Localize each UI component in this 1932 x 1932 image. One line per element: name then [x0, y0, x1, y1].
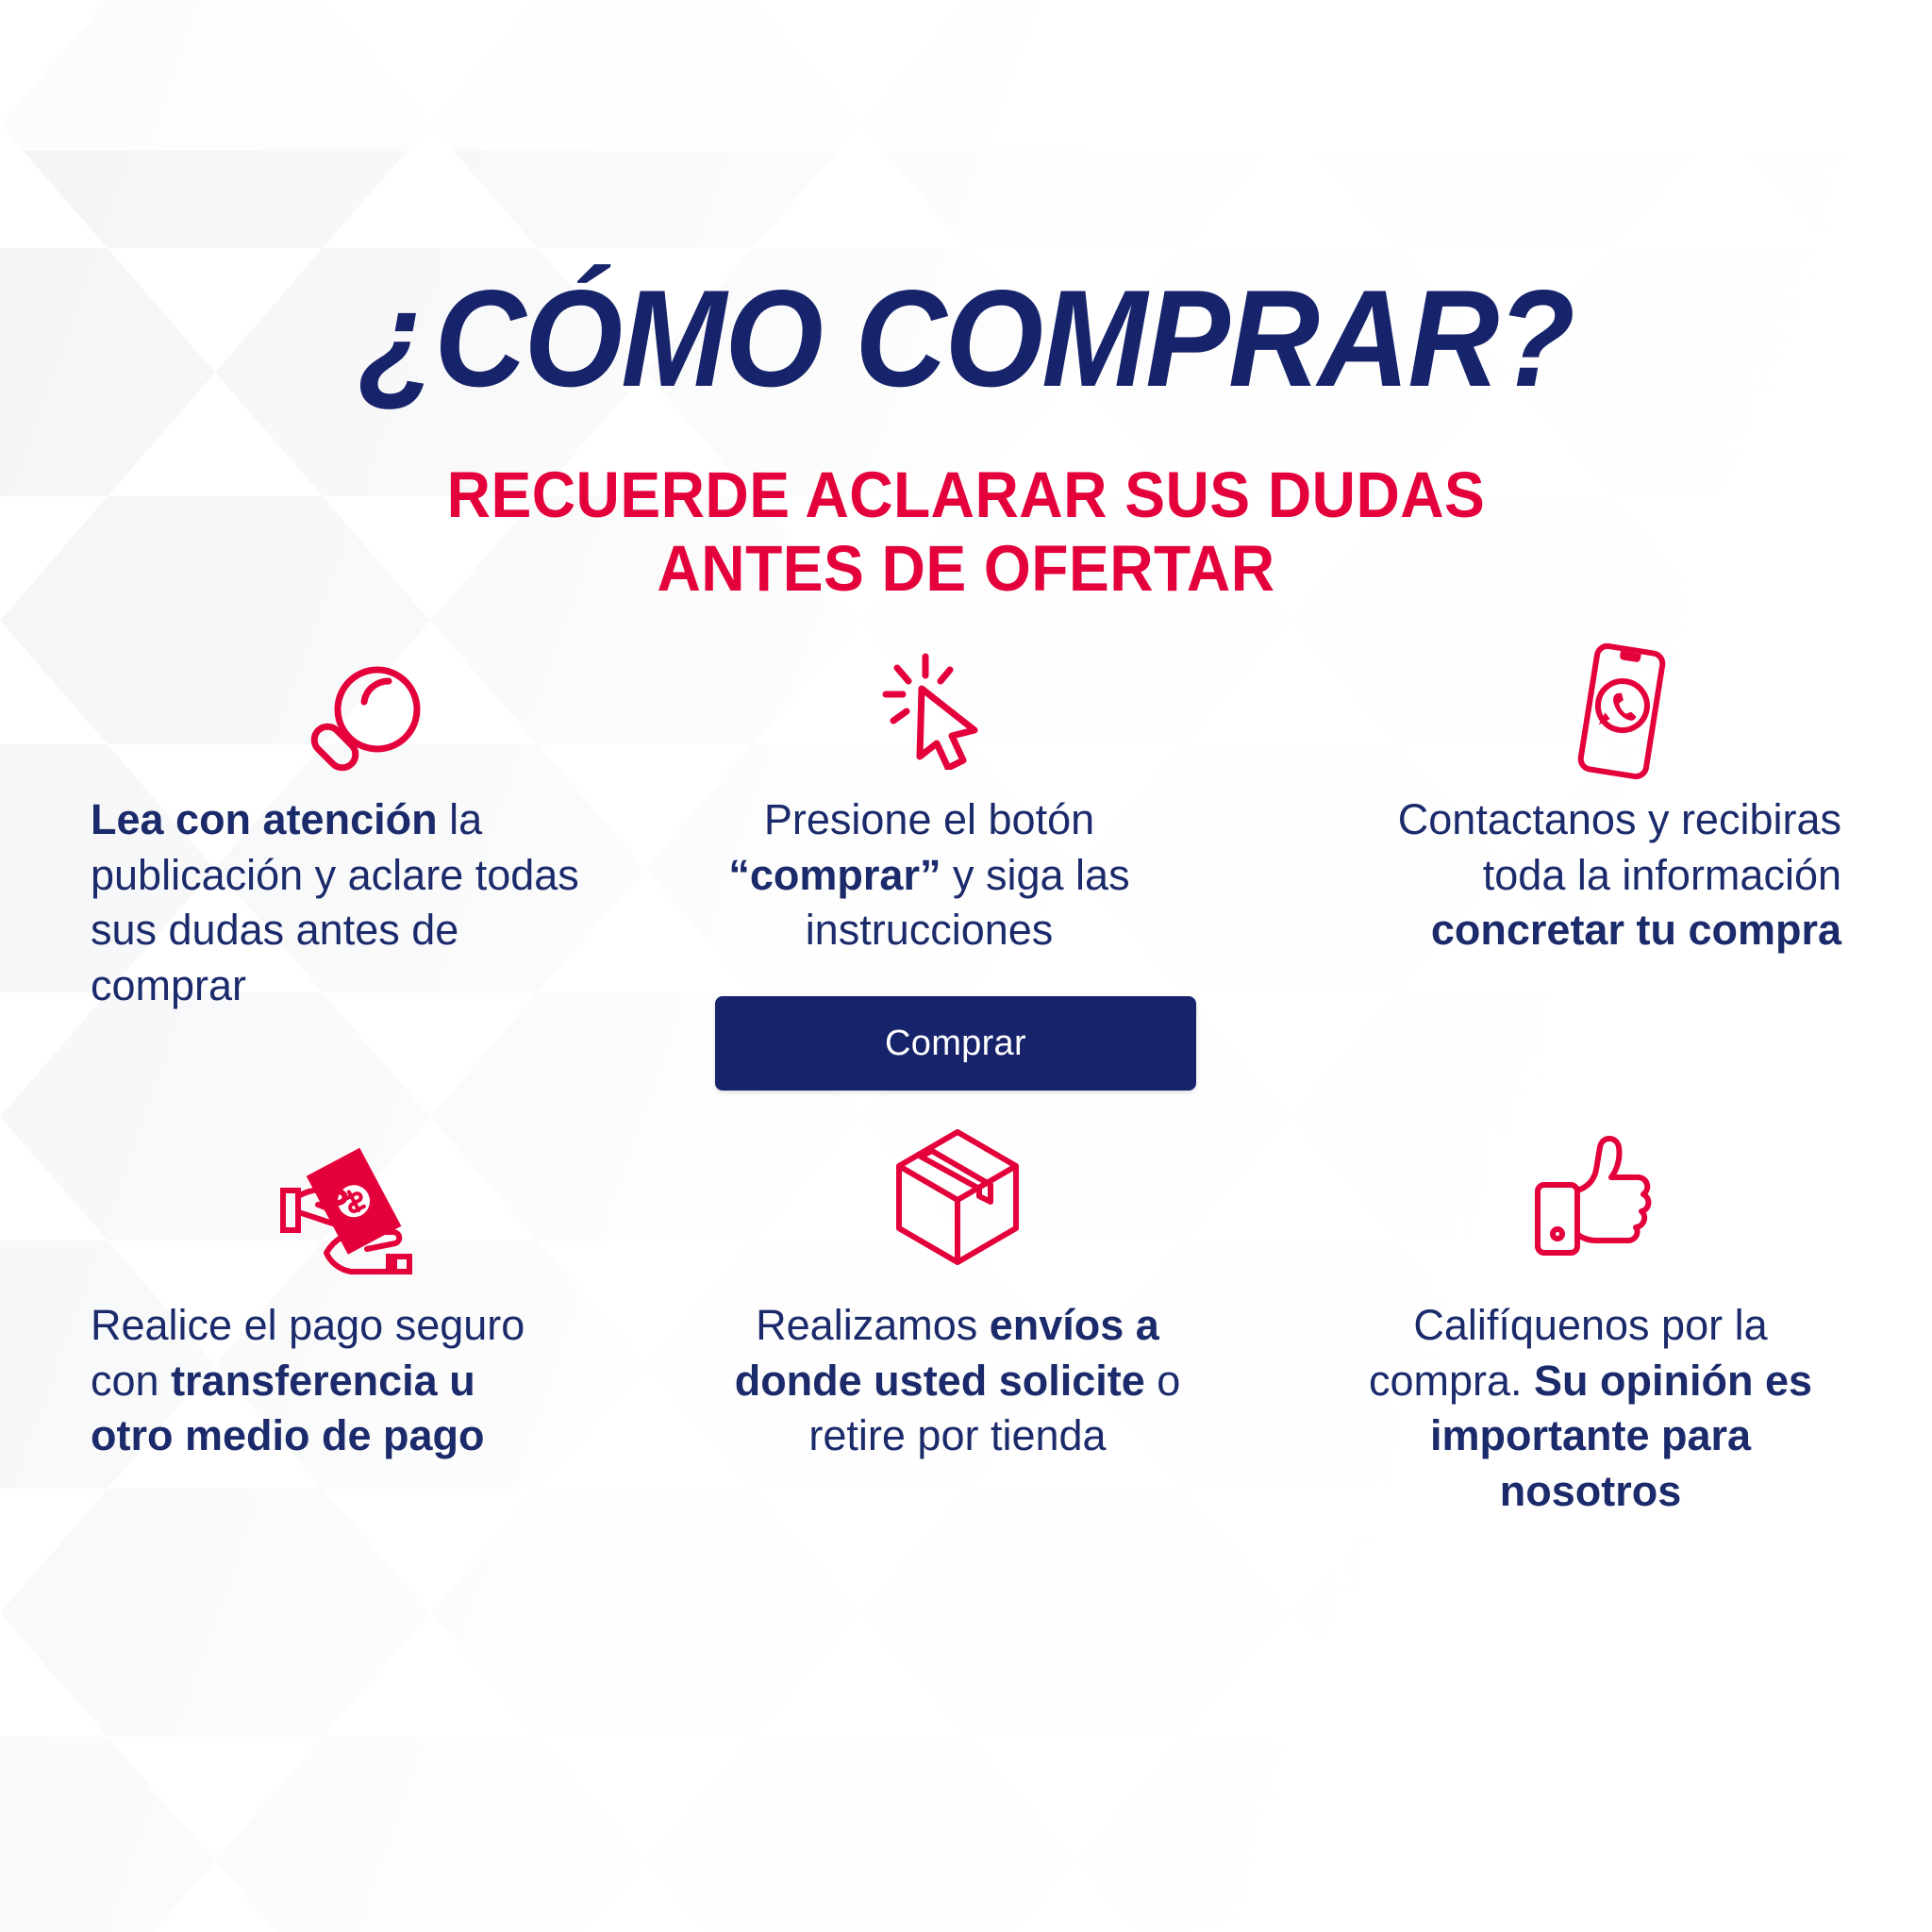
step-rate-us: Califíquenos por la compra. Su opinión e… — [1340, 1298, 1841, 1519]
magnifier-icon — [291, 660, 430, 793]
click-cursor-icon — [873, 649, 986, 774]
hand-money-icon — [272, 1141, 419, 1288]
step-text-pre: Presione el botón — [764, 795, 1094, 843]
comprar-button[interactable]: Comprar — [715, 996, 1196, 1091]
step-text-bold: concretar tu compra — [1431, 906, 1841, 954]
step-read-carefully: Lea con atención la publicación y aclare… — [91, 792, 600, 1013]
page-title: ¿CÓMO COMPRAR? — [77, 270, 1855, 408]
package-box-icon — [889, 1123, 1026, 1276]
whatsapp-phone-icon — [1562, 640, 1681, 788]
step-text: Realizamos envíos a donde usted solicite… — [717, 1298, 1198, 1464]
step-text-pre: Contactanos y recibiras toda la informac… — [1398, 795, 1841, 899]
subtitle-line-2: ANTES DE OFERTAR — [68, 532, 1865, 606]
step-text-bold: Lea con atención — [91, 795, 438, 843]
step-text: Lea con atención la publicación y aclare… — [91, 792, 600, 1013]
step-text: Presione el botón “comprar” y siga las i… — [693, 792, 1165, 958]
step-text: Califíquenos por la compra. Su opinión e… — [1340, 1298, 1841, 1519]
comprar-button-label: Comprar — [885, 1024, 1026, 1064]
step-text: Realice el pago seguro con transferencia… — [91, 1298, 562, 1464]
page-subtitle: RECUERDE ACLARAR SUS DUDAS ANTES DE OFER… — [68, 458, 1865, 606]
step-text-pre: Realizamos — [756, 1301, 990, 1349]
thumbs-up-icon — [1528, 1123, 1662, 1271]
step-shipping: Realizamos envíos a donde usted solicite… — [717, 1298, 1198, 1464]
subtitle-line-1: RECUERDE ACLARAR SUS DUDAS — [447, 458, 1486, 531]
step-text-bold: “comprar” — [728, 851, 941, 899]
step-text: Contactanos y recibiras toda la informac… — [1328, 792, 1841, 958]
step-contact-us: Contactanos y recibiras toda la informac… — [1328, 792, 1841, 958]
step-press-buy: Presione el botón “comprar” y siga las i… — [693, 792, 1165, 958]
step-secure-payment: Realice el pago seguro con transferencia… — [91, 1298, 562, 1464]
